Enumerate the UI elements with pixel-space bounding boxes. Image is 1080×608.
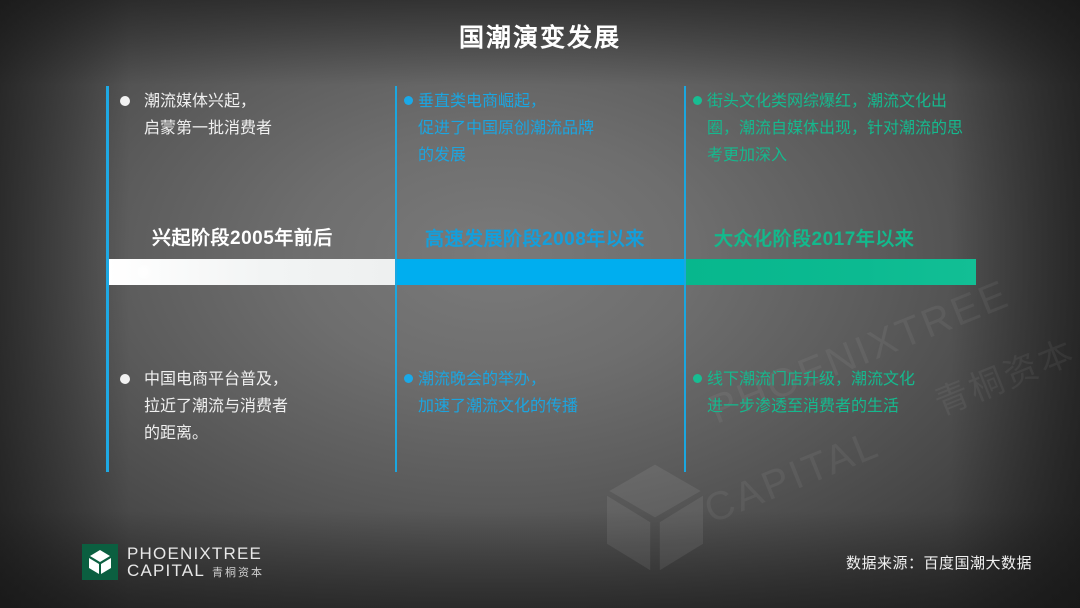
logo-text-line1: PHOENIXTREE <box>127 545 264 562</box>
column-3-top-text: 街头文化类网综爆红，潮流文化出 圈，潮流自媒体出现，针对潮流的思 考更加深入 <box>707 88 963 169</box>
column-3-bottom-text: 线下潮流门店升级，潮流文化 进一步渗透至消费者的生活 <box>707 366 915 420</box>
stage-bar-segment-1 <box>107 259 396 285</box>
column-stage-2-top: 垂直类电商崛起， 促进了中国原创潮流品牌 的发展 <box>404 88 676 169</box>
brand-logo: PHOENIXTREE CAPITAL 青桐资本 <box>82 544 264 580</box>
data-source-note: 数据来源：百度国潮大数据 <box>846 552 1032 573</box>
stage-bar-highlight <box>135 263 153 281</box>
column-1-top-text: 潮流媒体兴起， 启蒙第一批消费者 <box>144 88 272 142</box>
slide-canvas: PHOENIXTREE CAPITAL 青桐资本 国潮演变发展 潮流媒体兴起， … <box>0 0 1080 608</box>
bullet-dot-icon <box>120 96 130 106</box>
divider-line-left <box>106 86 109 472</box>
bullet-dot-icon <box>404 374 413 383</box>
bullet-dot-icon <box>693 96 702 105</box>
stage-bar-segment-2 <box>396 259 685 285</box>
bullet-dot-icon <box>693 374 702 383</box>
logo-text-chinese: 青桐资本 <box>212 568 264 579</box>
column-1-bottom-text: 中国电商平台普及， 拉近了潮流与消费者 的距离。 <box>144 366 288 447</box>
column-2-bottom-text: 潮流晚会的举办， 加速了潮流文化的传播 <box>418 366 578 420</box>
stage-3-label: 大众化阶段2017年以来 <box>714 224 914 251</box>
logo-text-line2: CAPITAL <box>127 562 205 579</box>
watermark-cube-icon <box>595 455 715 575</box>
bullet-dot-icon <box>120 374 130 384</box>
bullet-dot-icon <box>404 96 413 105</box>
stage-progress-bar <box>107 259 976 285</box>
stage-bar-segment-3 <box>685 259 976 285</box>
divider-line-middle-2 <box>684 86 686 472</box>
column-stage-3-top: 街头文化类网综爆红，潮流文化出 圈，潮流自媒体出现，针对潮流的思 考更加深入 <box>693 88 1043 169</box>
page-title: 国潮演变发展 <box>0 18 1080 54</box>
column-stage-3-bottom: 线下潮流门店升级，潮流文化 进一步渗透至消费者的生活 <box>693 366 1043 420</box>
divider-line-middle-1 <box>395 86 397 472</box>
phoenixtree-cube-logo-icon <box>82 544 118 580</box>
column-stage-2-bottom: 潮流晚会的举办， 加速了潮流文化的传播 <box>404 366 676 420</box>
watermark-text-capital: CAPITAL <box>698 422 886 533</box>
column-2-top-text: 垂直类电商崛起， 促进了中国原创潮流品牌 的发展 <box>418 88 594 169</box>
stage-2-label: 高速发展阶段2008年以来 <box>425 224 645 251</box>
column-stage-1-top: 潮流媒体兴起， 启蒙第一批消费者 <box>120 88 385 142</box>
column-stage-1-bottom: 中国电商平台普及， 拉近了潮流与消费者 的距离。 <box>120 366 385 447</box>
stage-1-label: 兴起阶段2005年前后 <box>152 223 333 250</box>
